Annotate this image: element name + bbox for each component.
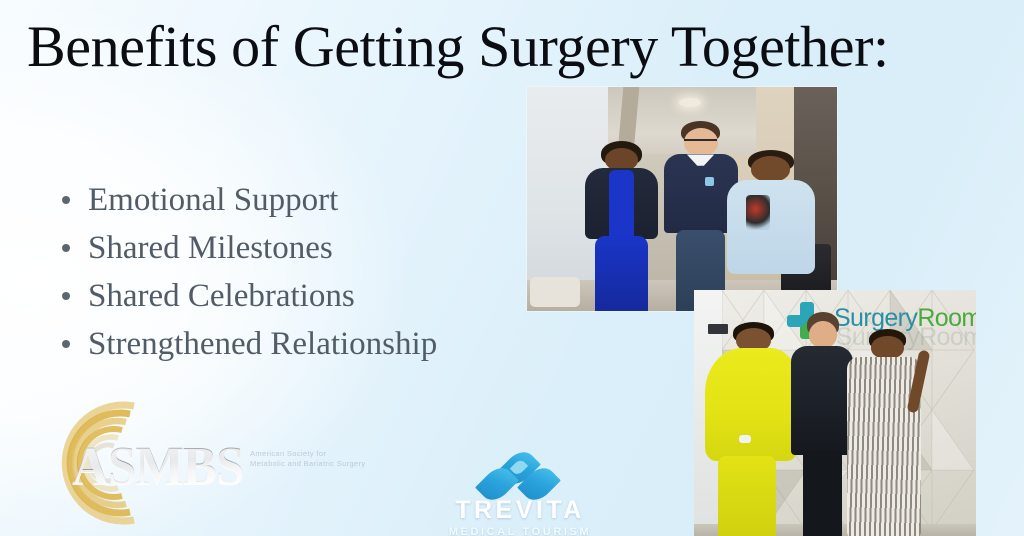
trevita-petals-icon (476, 450, 562, 498)
list-item-label: Shared Celebrations (88, 278, 355, 314)
face (751, 156, 790, 182)
trevita-logo: TREVITA MEDICAL TOURISM (440, 450, 600, 536)
pants (595, 236, 649, 311)
asmbs-logo: ASMBS American Society for Metabolic and… (22, 398, 372, 528)
trevita-subtitle: MEDICAL TOURISM (440, 526, 600, 536)
presentation-slide: Benefits of Getting Surgery Together: Em… (0, 0, 1024, 536)
chest-logo (705, 177, 714, 186)
t-shirt (727, 180, 814, 274)
glasses-icon (684, 139, 716, 147)
bullet-point-icon (62, 196, 70, 204)
face (871, 336, 903, 359)
striped-dress (847, 357, 921, 536)
person-woman-navy-cardigan (580, 141, 664, 311)
ceiling-light (679, 98, 701, 107)
bullet-point-icon (62, 292, 70, 300)
list-item-label: Strengthened Relationship (88, 326, 437, 362)
yellow-pants (718, 456, 776, 536)
person-woman-yellow-outfit (705, 322, 798, 536)
photo-group-surgery-room: SurgeryRoom SurgeryRoom (694, 290, 976, 536)
photo-scene (527, 87, 837, 311)
list-item-label: Shared Milestones (88, 230, 333, 266)
benefits-list: Emotional Support Shared Milestones Shar… (58, 176, 437, 368)
shirt-graphic (746, 195, 770, 230)
list-item: Strengthened Relationship (58, 320, 437, 368)
trevita-wordmark: TREVITA (440, 496, 600, 525)
list-item: Shared Celebrations (58, 272, 437, 320)
bullet-point-icon (62, 340, 70, 348)
list-item: Emotional Support (58, 176, 437, 224)
face (809, 321, 837, 348)
page-title: Benefits of Getting Surgery Together: (27, 16, 889, 77)
asmbs-tagline: American Society for Metabolic and Baria… (250, 449, 390, 469)
uniform-pants (803, 450, 842, 536)
person-woman-light-blue-tee (725, 150, 818, 311)
asmbs-tagline-line-2: Metabolic and Bariatric Surgery (250, 459, 390, 469)
asmbs-tagline-line-1: American Society for (250, 449, 390, 459)
person-woman-striped-dress (843, 329, 928, 536)
list-item: Shared Milestones (58, 224, 437, 272)
asmbs-wordmark: ASMBS (72, 434, 244, 497)
photo-scene: SurgeryRoom SurgeryRoom (694, 290, 976, 536)
yellow-top (705, 348, 798, 461)
photo-group-hotel-room (527, 87, 837, 311)
wristwatch (739, 435, 751, 444)
ottoman (530, 277, 580, 306)
sign-text-room: Room (917, 304, 976, 332)
bullet-point-icon (62, 244, 70, 252)
inner-top (609, 170, 634, 241)
list-item-label: Emotional Support (88, 182, 338, 218)
